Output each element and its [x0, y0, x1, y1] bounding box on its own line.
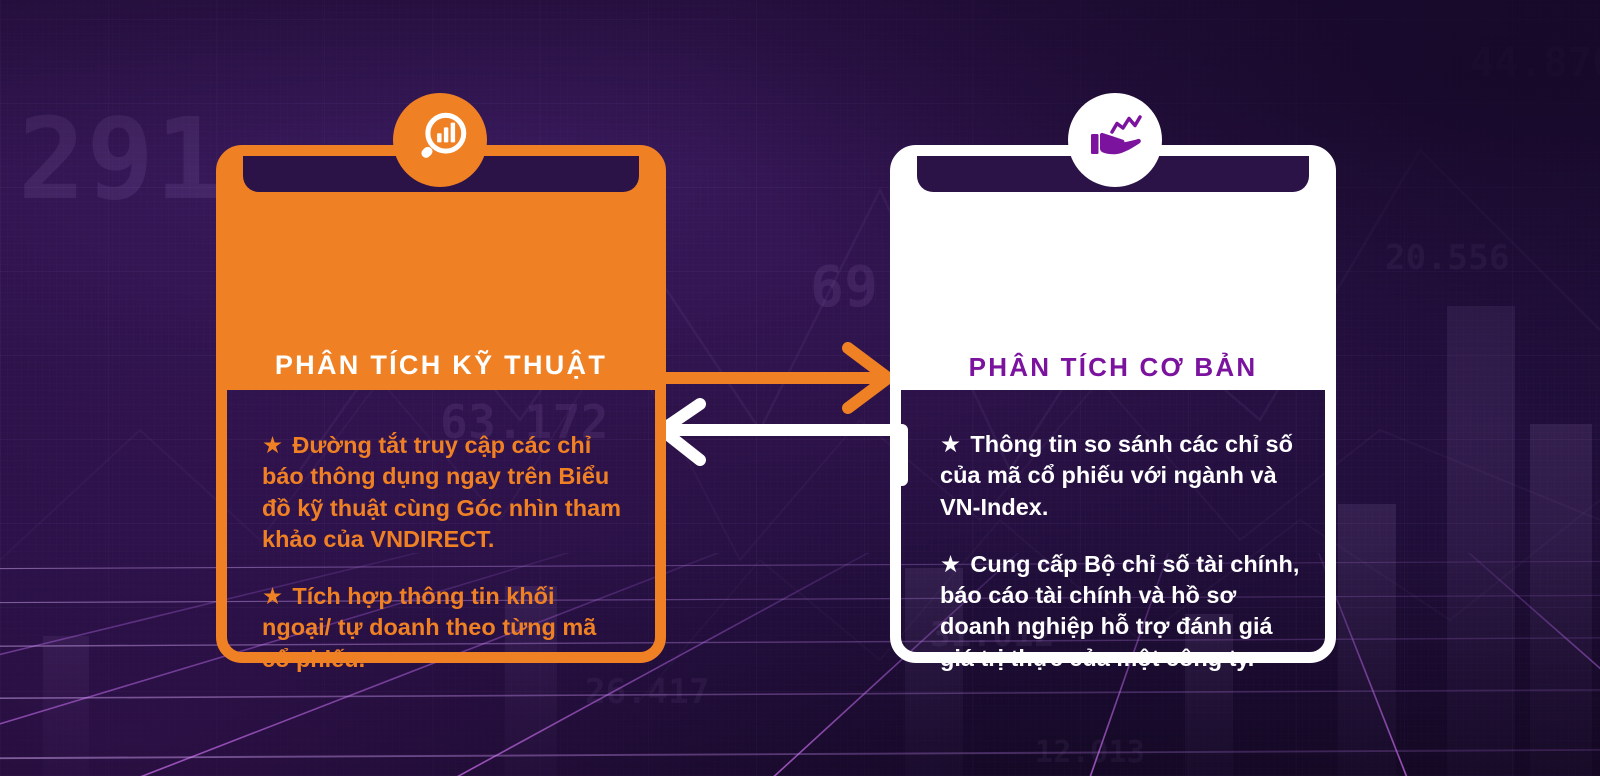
card-body: ★ Đường tắt truy cập các chỉ báo thông d…	[262, 430, 630, 675]
magnifier-chart-badge	[393, 93, 487, 187]
bullet-text: Đường tắt truy cập các chỉ báo thông dụn…	[262, 432, 621, 552]
arrow-left-to-right	[640, 330, 910, 410]
arrow-right-to-left	[648, 406, 918, 486]
bullet-text: Tích hợp thông tin khối ngoại/ tự doanh …	[262, 583, 596, 672]
card-title: PHÂN TÍCH CƠ BẢN	[890, 352, 1336, 383]
star-bullet-icon: ★	[262, 581, 283, 612]
magnifier-chart-icon	[409, 109, 471, 171]
infographic-canvas: 29169.93844.87020.55631.01226.41712.0136…	[0, 0, 1600, 776]
card-title: PHÂN TÍCH KỸ THUẬT	[216, 350, 666, 381]
hand-trend-icon	[1083, 108, 1147, 172]
star-bullet-icon: ★	[940, 549, 961, 580]
star-bullet-icon: ★	[940, 429, 961, 460]
hand-trend-badge	[1068, 93, 1162, 187]
card-technical-analysis: PHÂN TÍCH KỸ THUẬT ★ Đường tắt truy cập …	[216, 145, 666, 663]
bullet-item: ★ Cung cấp Bộ chỉ số tài chính, báo cáo …	[940, 549, 1302, 674]
card-body: ★ Thông tin so sánh các chỉ số của mã cổ…	[940, 429, 1302, 674]
bullet-item: ★ Đường tắt truy cập các chỉ báo thông d…	[262, 430, 630, 555]
bullet-item: ★ Thông tin so sánh các chỉ số của mã cổ…	[940, 429, 1302, 523]
bullet-text: Thông tin so sánh các chỉ số của mã cổ p…	[940, 431, 1293, 520]
card-fundamental-analysis: PHÂN TÍCH CƠ BẢN ★ Thông tin so sánh các…	[890, 145, 1336, 663]
bullet-text: Cung cấp Bộ chỉ số tài chính, báo cáo tà…	[940, 551, 1299, 671]
bullet-item: ★ Tích hợp thông tin khối ngoại/ tự doan…	[262, 581, 630, 675]
star-bullet-icon: ★	[262, 430, 283, 461]
